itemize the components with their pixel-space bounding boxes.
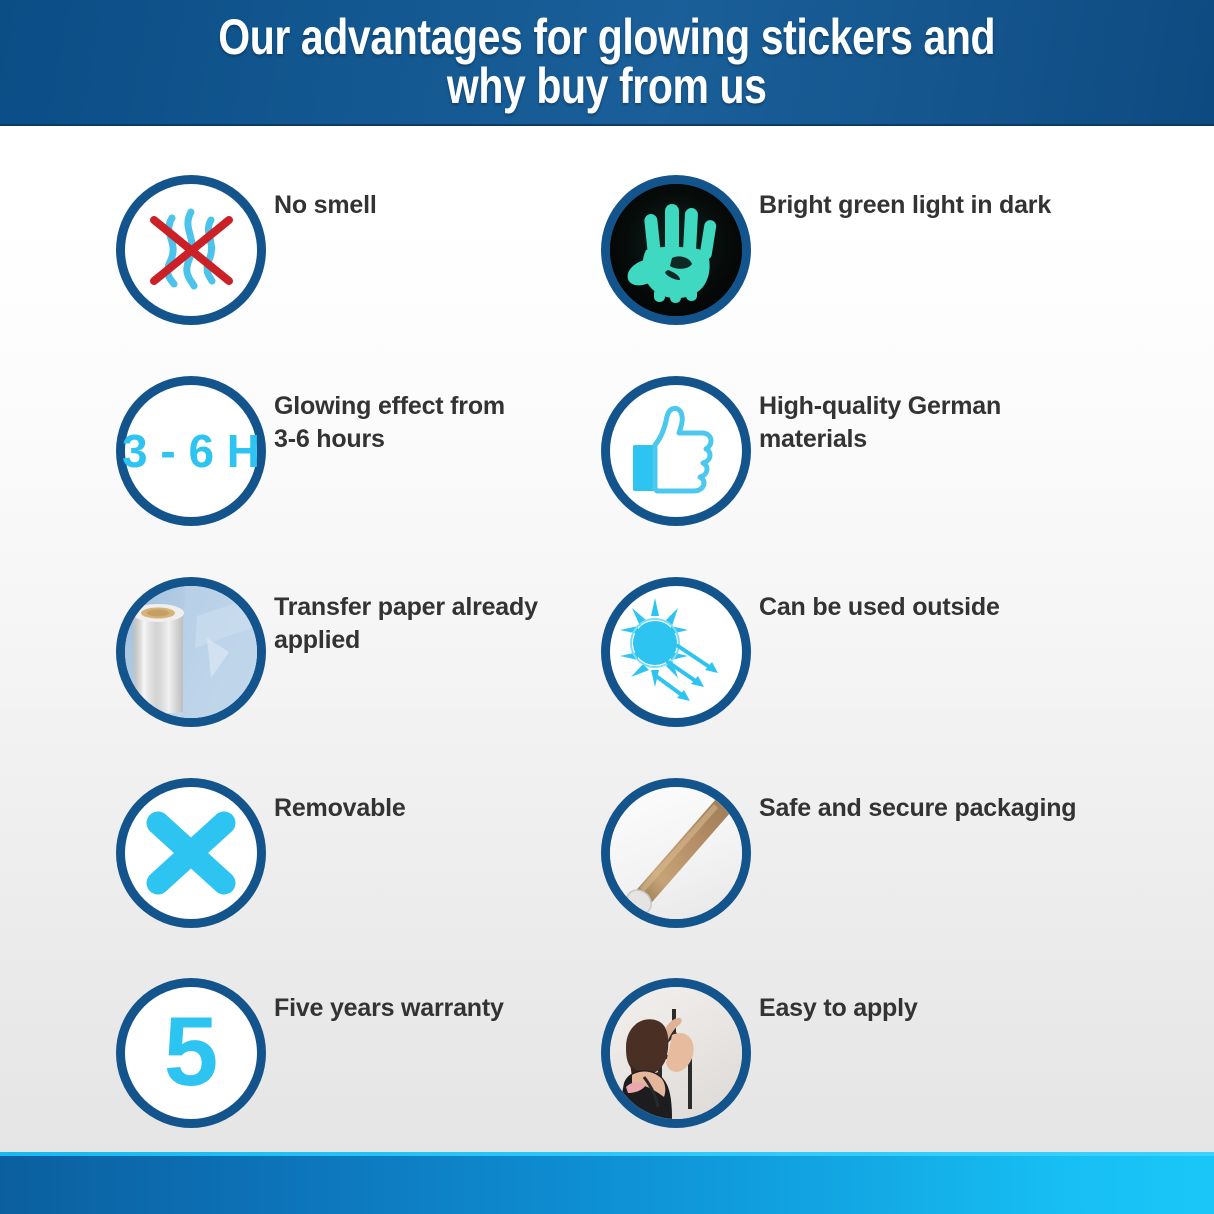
no-smell-icon-glyph <box>125 184 257 316</box>
feature-bright-green-light: Bright green light in dark <box>601 175 1089 325</box>
five-years-badge-icon: 5 <box>116 978 266 1128</box>
feature-warranty: 5 Five years warranty <box>116 978 604 1128</box>
hours-badge-text: 3 - 6 H <box>122 424 260 478</box>
feature-removable: Removable <box>116 778 604 928</box>
advantages-poster: Our advantages for glowing stickers and … <box>0 0 1214 1214</box>
mailing-tube-glyph <box>610 787 742 919</box>
mailing-tube-photo <box>601 778 751 928</box>
transfer-paper-roll-glyph <box>125 586 257 718</box>
thumbs-up-icon <box>601 376 751 526</box>
sun-rays-icon-glyph <box>610 586 742 718</box>
thumbs-up-icon-glyph <box>610 385 742 517</box>
feature-german-materials: High-quality German materials <box>601 376 1089 526</box>
feature-glowing-duration: 3 - 6 H Glowing effect from 3-6 hours <box>116 376 604 526</box>
feature-label: Can be used outside <box>759 577 1089 624</box>
transfer-paper-roll-photo <box>116 577 266 727</box>
footer-highlight-strip <box>0 1152 1214 1156</box>
feature-label: No smell <box>274 175 604 222</box>
feature-secure-packaging: Safe and secure packaging <box>601 778 1089 928</box>
sun-rays-icon <box>601 577 751 727</box>
feature-label: Five years warranty <box>274 978 604 1025</box>
glowing-handprint-icon-glyph <box>610 184 742 316</box>
glowing-handprint-icon <box>601 175 751 325</box>
cross-mark-icon-glyph <box>125 787 257 919</box>
feature-label: Glowing effect from 3-6 hours <box>274 376 604 456</box>
feature-transfer-paper: Transfer paper already applied <box>116 577 604 727</box>
feature-easy-to-apply: Easy to apply <box>601 978 1089 1128</box>
feature-label: Easy to apply <box>759 978 1089 1025</box>
feature-label: High-quality German materials <box>759 376 1089 456</box>
feature-used-outside: Can be used outside <box>601 577 1089 727</box>
hours-badge-icon: 3 - 6 H <box>116 376 266 526</box>
no-smell-icon <box>116 175 266 325</box>
cross-mark-icon <box>116 778 266 928</box>
footer-banner <box>0 1152 1214 1214</box>
feature-no-smell: No smell <box>116 175 604 325</box>
feature-label: Transfer paper already applied <box>274 577 604 657</box>
warranty-digit-text: 5 <box>164 1002 219 1100</box>
features-grid: No smell <box>0 126 1214 1152</box>
woman-applying-decal-photo <box>601 978 751 1128</box>
header-banner: Our advantages for glowing stickers and … <box>0 0 1214 126</box>
woman-applying-decal-glyph <box>610 987 742 1119</box>
feature-label: Removable <box>274 778 604 825</box>
feature-label: Bright green light in dark <box>759 175 1089 222</box>
page-title: Our advantages for glowing stickers and … <box>219 13 996 111</box>
feature-label: Safe and secure packaging <box>759 778 1089 825</box>
